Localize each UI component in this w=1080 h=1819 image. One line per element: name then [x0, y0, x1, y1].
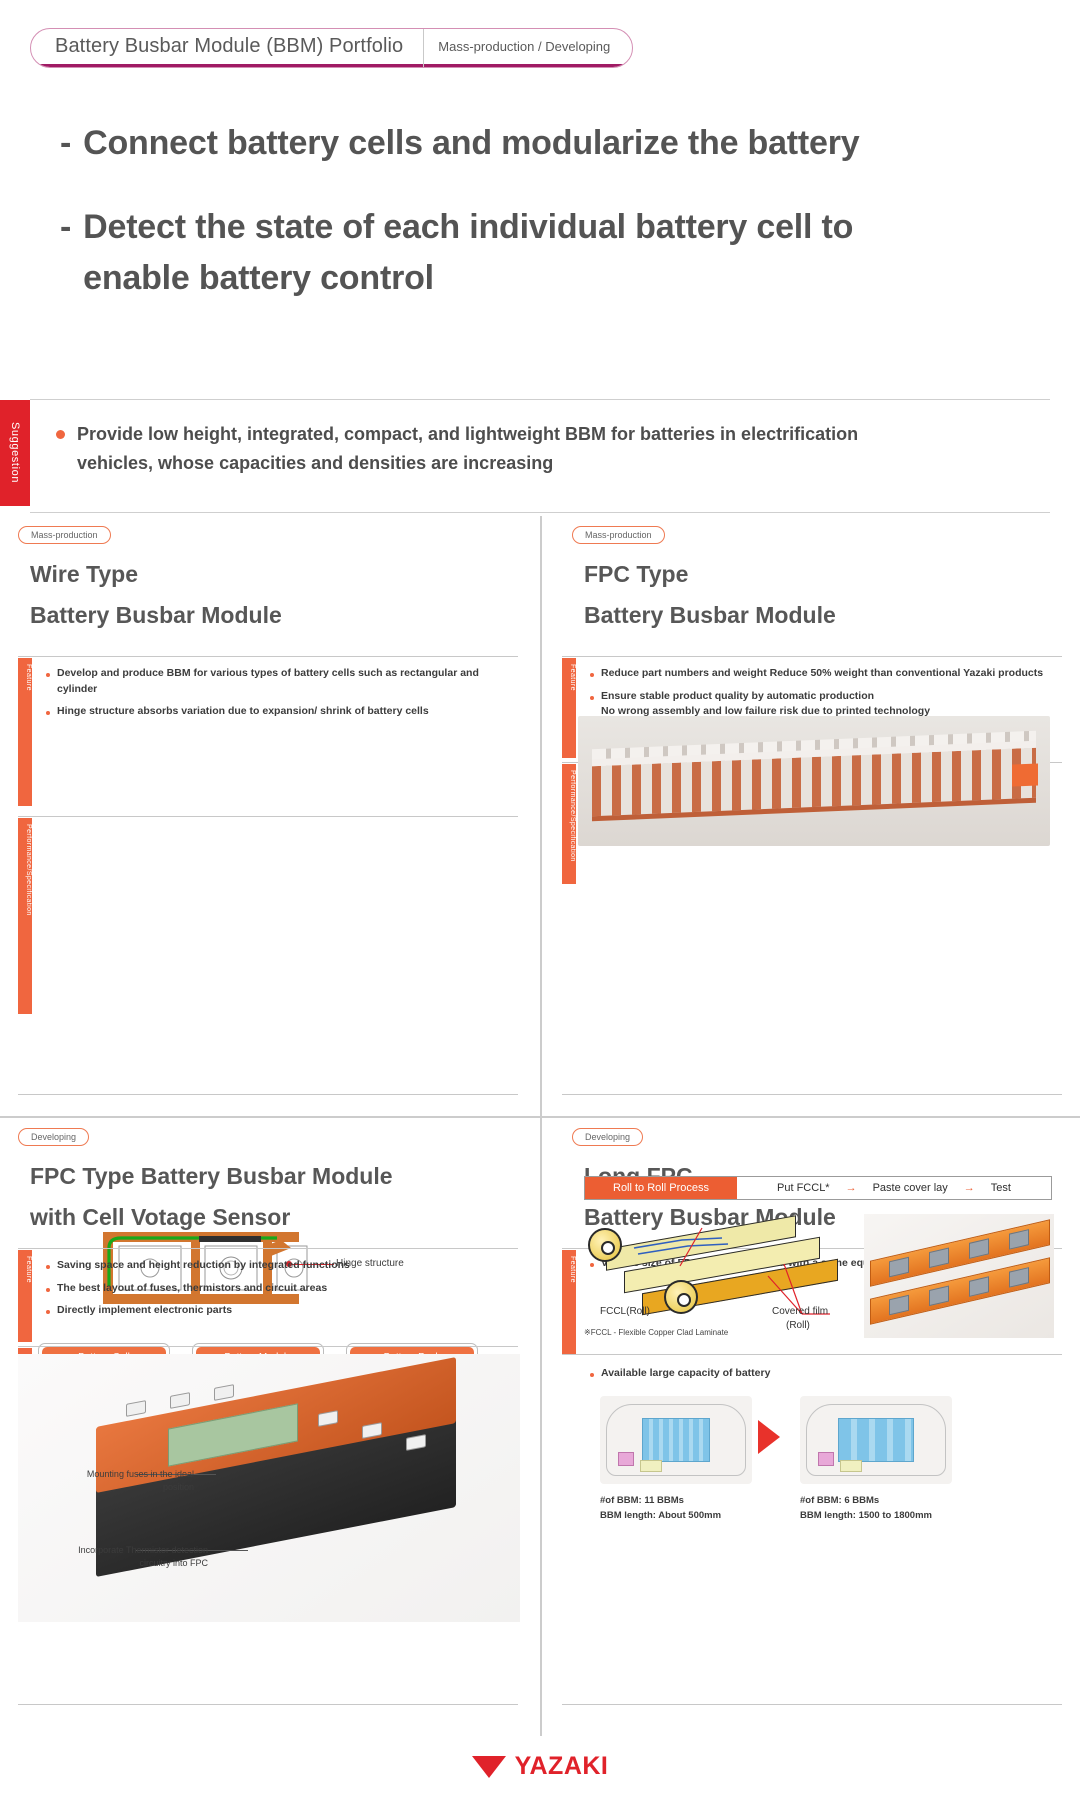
quadrant-title: FPC Type Battery Busbar Module — [584, 554, 1054, 636]
covered-film-label-2: (Roll) — [786, 1320, 810, 1331]
roll-to-roll-diagram: FCCL(Roll) Covered film (Roll) ※FCCL - F… — [572, 1214, 872, 1344]
suggestion-tab: Suggestion — [0, 400, 30, 506]
section-divider — [18, 1346, 518, 1347]
status-badge: Mass-production — [572, 526, 665, 544]
bbm-length-right: BBM length: 1500 to 1800mm — [800, 1509, 1000, 1524]
spec-tab: Performance/Specification — [18, 818, 32, 1014]
quadrant-bottom-divider — [18, 1704, 518, 1705]
bullet-item: The best layout of fuses, thermistors an… — [46, 1281, 512, 1297]
suggestion-text: Provide low height, integrated, compact,… — [77, 420, 936, 478]
feature-tab-label: Feature — [562, 658, 576, 691]
section-divider — [18, 656, 518, 657]
feature-bullet-list: Develop and produce BBM for various type… — [46, 666, 512, 727]
slide-page: Battery Busbar Module (BBM) Portfolio Ma… — [0, 0, 1080, 1819]
bullet-dot-icon — [590, 696, 594, 700]
process-arrow-icon: → — [964, 1182, 975, 1194]
section-divider — [562, 1354, 1062, 1355]
bullet-dot-icon — [46, 1265, 50, 1269]
bullet-text: The best layout of fuses, thermistors an… — [57, 1281, 327, 1297]
car-diagram-11-bbms — [600, 1396, 752, 1484]
page-title: Battery Busbar Module (BBM) Portfolio — [31, 29, 423, 67]
car-caption-left: #of BBM: 11 BBMs BBM length: About 500mm — [600, 1494, 780, 1523]
header-status-tag: Mass-production / Developing — [424, 29, 632, 67]
headline-item: - Detect the state of each individual ba… — [60, 202, 960, 303]
bullet-text: Saving space and height reduction by int… — [57, 1258, 350, 1274]
header-pill: Battery Busbar Module (BBM) Portfolio Ma… — [30, 28, 633, 68]
bullet-text: Ensure stable product quality by automat… — [601, 689, 930, 720]
bullet-text: Available large capacity of battery — [601, 1366, 770, 1382]
bullet-text: Directly implement electronic parts — [57, 1303, 232, 1319]
bbm-count-right: #of BBM: 6 BBMs — [800, 1494, 1000, 1509]
feature-bullet-list: Saving space and height reduction by int… — [46, 1258, 512, 1326]
quadrant-title-line1: FPC Type Battery Busbar Module — [30, 1156, 500, 1197]
bullet-text: Hinge structure absorbs variation due to… — [57, 704, 429, 720]
roll-to-roll-process-bar: Roll to Roll Process Put FCCL* → Paste c… — [584, 1176, 1052, 1200]
suggestion-tab-label: Suggestion — [9, 422, 21, 483]
annotation-fuses: Mounting fuses in the ideal position — [76, 1468, 194, 1494]
feature-tab: Feature — [562, 658, 576, 758]
headline-list: - Connect battery cells and modularize t… — [60, 118, 960, 303]
bullet-item: Directly implement electronic parts — [46, 1303, 512, 1319]
bullet-dot-icon — [590, 1373, 594, 1377]
quadrant-bottom-divider — [18, 1094, 518, 1095]
bullet-dot-icon — [590, 673, 594, 677]
headline-text: Connect battery cells and modularize the… — [83, 118, 960, 168]
suggestion-top-divider — [30, 399, 1050, 400]
quadrant-title-line2: Battery Busbar Module — [584, 595, 1054, 636]
bullet-text-line: Ensure stable product quality by automat… — [601, 689, 930, 705]
car-diagram-6-bbms — [800, 1396, 952, 1484]
bullet-item: Ensure stable product quality by automat… — [590, 689, 1060, 720]
feature-tab: Feature — [18, 1250, 32, 1342]
bullet-dot-icon — [46, 1288, 50, 1292]
quadrant-grid: Mass-production Wire Type Battery Busbar… — [0, 516, 1080, 1736]
quadrant-title-line1: FPC Type — [584, 554, 1054, 595]
suggestion-bottom-divider — [30, 512, 1050, 513]
bullet-item: Develop and produce BBM for various type… — [46, 666, 512, 697]
quadrant-wire-type[interactable]: Mass-production Wire Type Battery Busbar… — [0, 516, 540, 1116]
section-divider — [18, 1248, 518, 1249]
fccl-roll-label: FCCL(Roll) — [600, 1306, 650, 1317]
feature-tab-label: Feature — [18, 1250, 32, 1283]
long-fpc-product-photo — [864, 1214, 1054, 1338]
quadrant-long-fpc[interactable]: Developing Long FPC Battery Busbar Modul… — [540, 1116, 1080, 1736]
suggestion-body: Provide low height, integrated, compact,… — [56, 420, 936, 478]
bullet-item: Available large capacity of battery — [590, 1366, 1060, 1382]
bullet-dot-icon — [46, 711, 50, 715]
process-step-3: Test — [991, 1182, 1011, 1194]
process-label: Roll to Roll Process — [585, 1177, 737, 1199]
bullet-item: Hinge structure absorbs variation due to… — [46, 704, 512, 720]
annotation-thermistor: Incorporate Thermistor detection circuit… — [58, 1544, 208, 1570]
yazaki-logo-icon — [472, 1756, 506, 1778]
quadrant-title-line1: Wire Type — [30, 554, 500, 595]
spec-tab: Performance/Specification — [562, 764, 576, 884]
bbm-length-left: BBM length: About 500mm — [600, 1509, 780, 1524]
headline-dash: - — [60, 118, 71, 168]
section-divider — [562, 656, 1062, 657]
quadrant-title-line2: with Cell Votage Sensor — [30, 1197, 500, 1238]
headline-dash: - — [60, 202, 71, 303]
quadrant-bottom-divider — [562, 1094, 1062, 1095]
headline-item: - Connect battery cells and modularize t… — [60, 118, 960, 168]
bullet-text: Reduce part numbers and weight Reduce 50… — [601, 666, 1043, 682]
quadrant-bottom-divider — [562, 1704, 1062, 1705]
brand-name: YAZAKI — [515, 1752, 609, 1781]
spec-tab-label: Performance/Specification — [562, 764, 576, 862]
feature-tab-label: Feature — [18, 658, 32, 691]
capacity-bullet-list: Available large capacity of battery — [590, 1366, 1060, 1389]
quadrant-title: Wire Type Battery Busbar Module — [30, 554, 500, 636]
spec-tab-label: Performance/Specification — [18, 818, 32, 916]
feature-tab: Feature — [18, 658, 32, 806]
quadrant-fpc-cell-voltage-sensor[interactable]: Developing FPC Type Battery Busbar Modul… — [0, 1116, 540, 1736]
fpc-module-photo — [578, 716, 1050, 846]
quadrant-title: FPC Type Battery Busbar Module with Cell… — [30, 1156, 500, 1238]
process-step-2: Paste cover lay — [873, 1182, 948, 1194]
bullet-item: Reduce part numbers and weight Reduce 50… — [590, 666, 1060, 682]
bullet-item: Saving space and height reduction by int… — [46, 1258, 512, 1274]
fccl-footnote: ※FCCL - Flexible Copper Clad Laminate — [584, 1328, 728, 1337]
quadrant-fpc-type[interactable]: Mass-production FPC Type Battery Busbar … — [540, 516, 1080, 1116]
process-arrow-icon: → — [846, 1182, 857, 1194]
car-caption-right: #of BBM: 6 BBMs BBM length: 1500 to 1800… — [800, 1494, 1000, 1523]
comparison-arrow-icon — [758, 1420, 786, 1454]
status-badge: Developing — [572, 1128, 643, 1146]
status-badge: Mass-production — [18, 526, 111, 544]
bullet-dot-icon — [56, 430, 65, 439]
bbm-count-left: #of BBM: 11 BBMs — [600, 1494, 780, 1509]
quadrant-title-line2: Battery Busbar Module — [30, 595, 500, 636]
section-divider — [18, 816, 518, 817]
footer-brand: YAZAKI — [0, 1752, 1080, 1781]
bullet-dot-icon — [46, 1310, 50, 1314]
bullet-text: Develop and produce BBM for various type… — [57, 666, 512, 697]
headline-text: Detect the state of each individual batt… — [83, 202, 960, 303]
process-step-1: Put FCCL* — [777, 1182, 830, 1194]
covered-film-label: Covered film — [772, 1306, 828, 1317]
status-badge: Developing — [18, 1128, 89, 1146]
bullet-dot-icon — [46, 673, 50, 677]
